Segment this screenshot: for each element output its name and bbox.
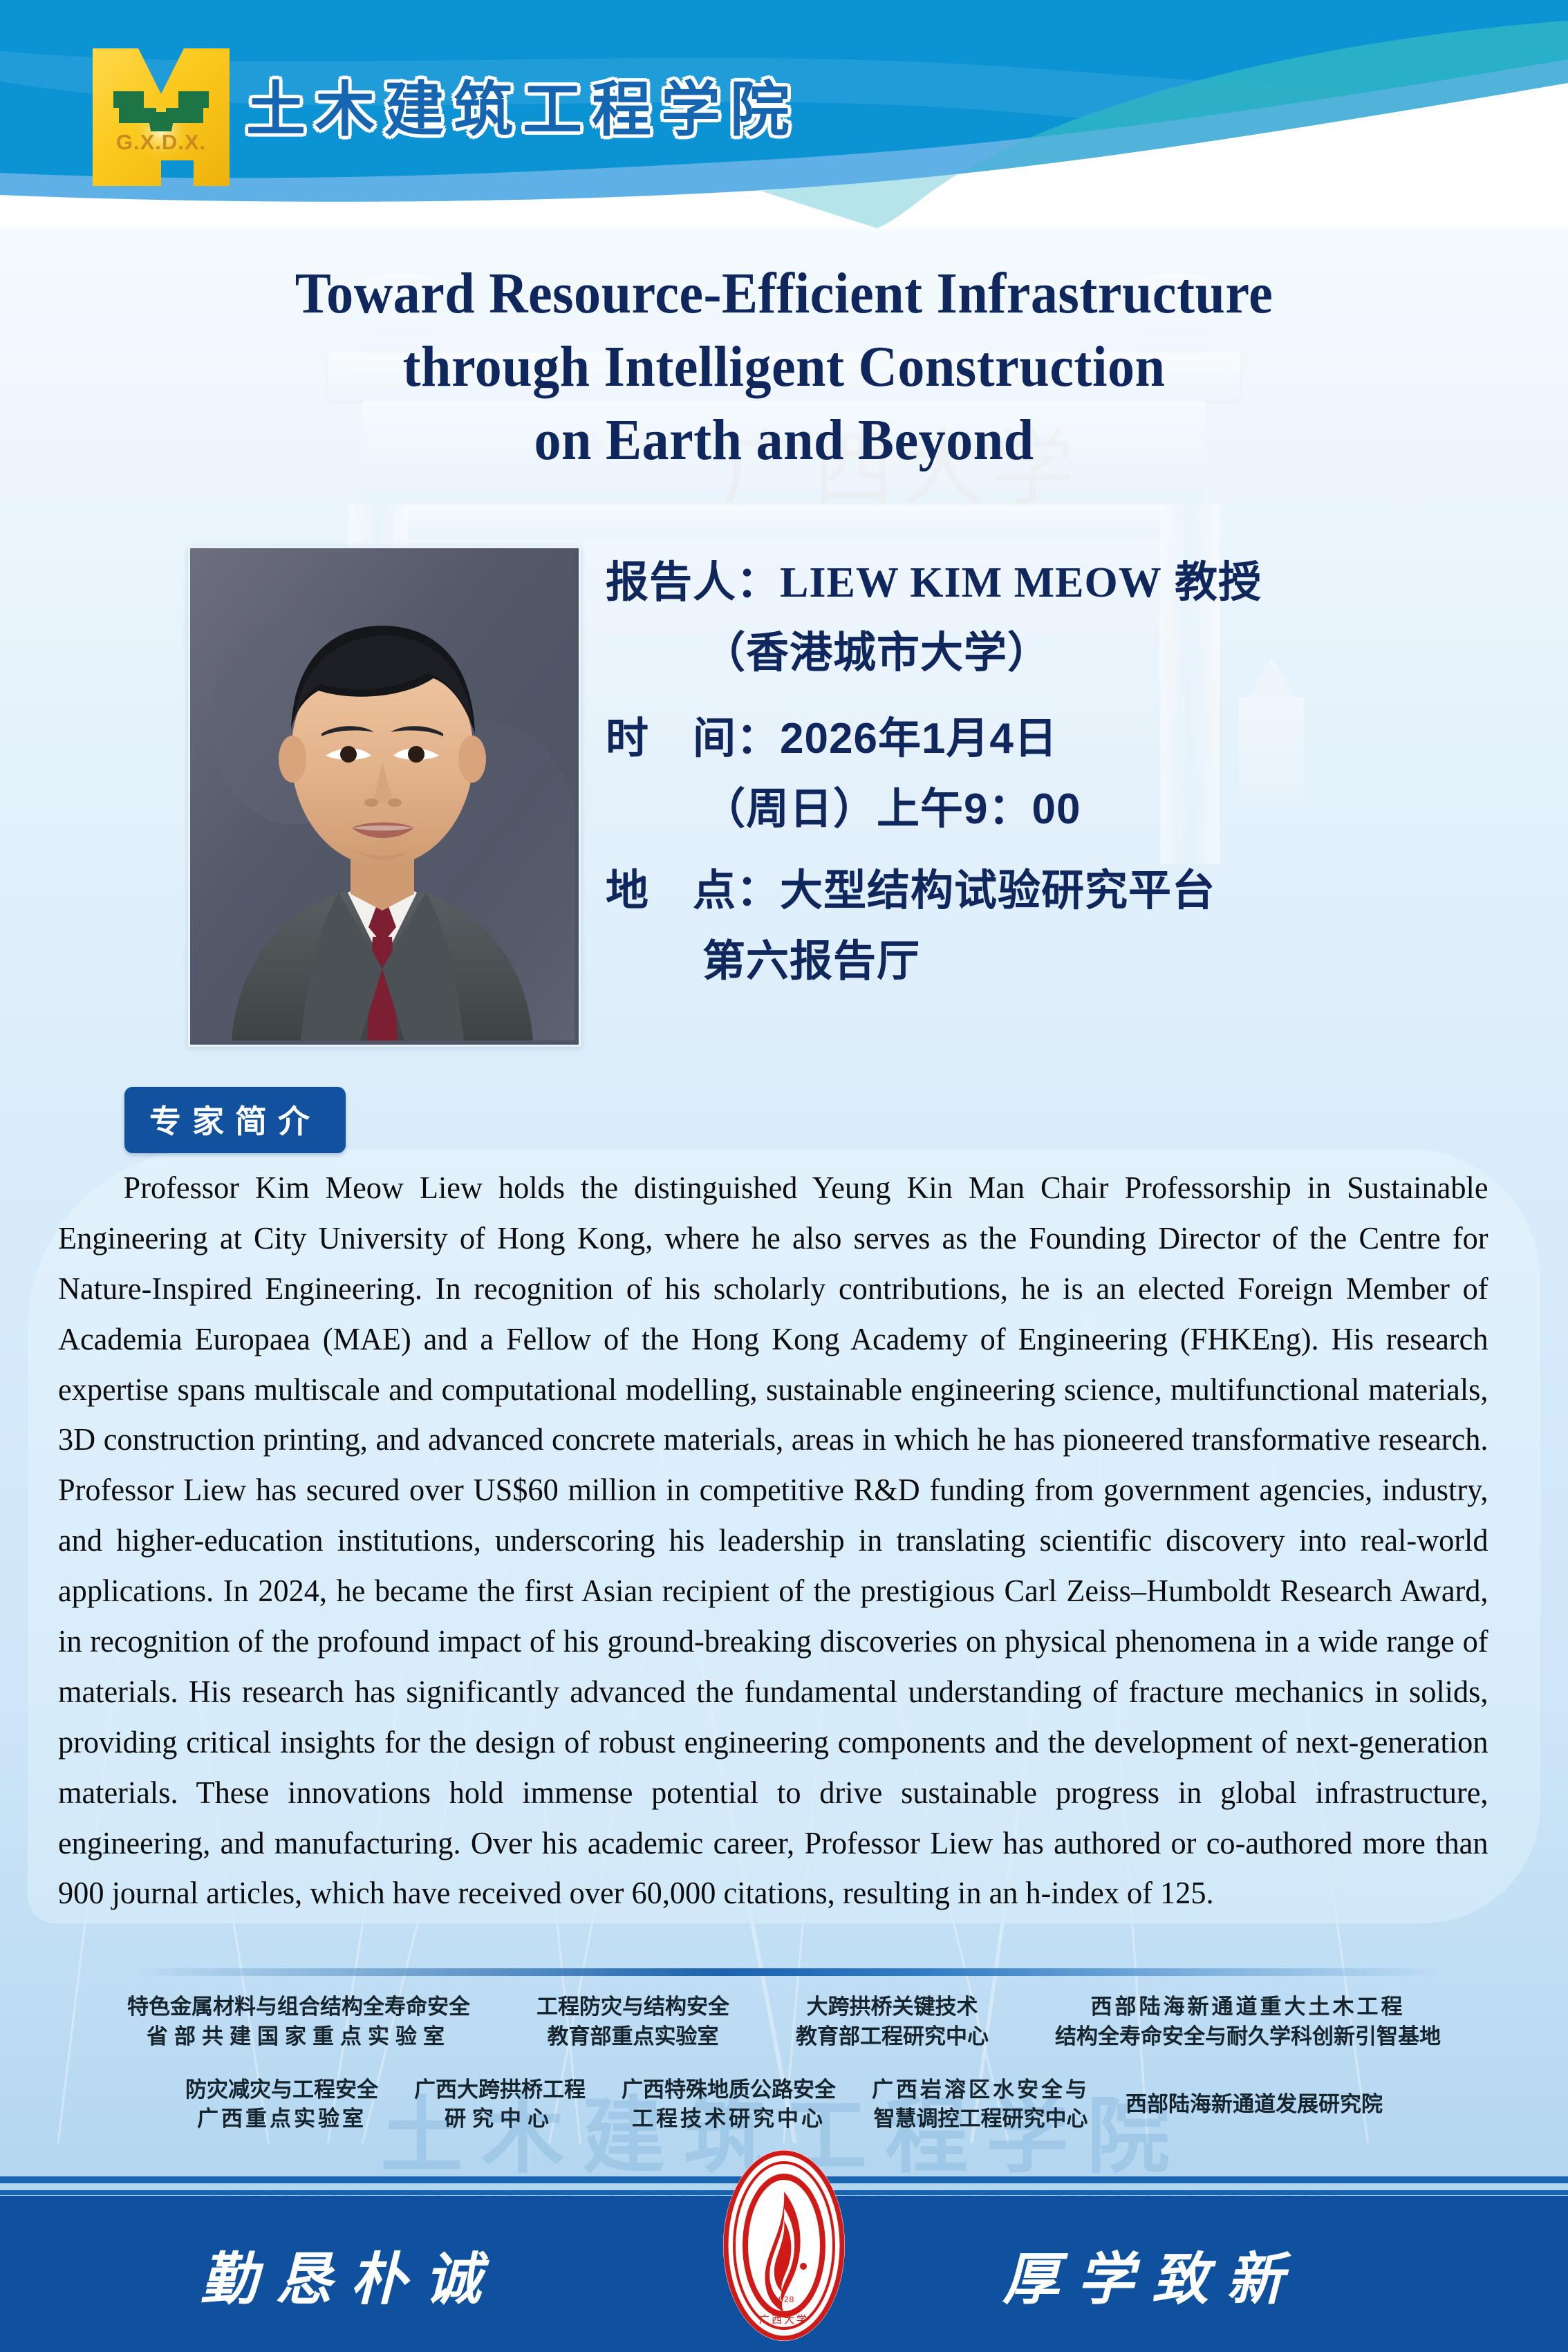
lab-line-1: 工程防灾与结构安全 xyxy=(536,1992,729,2022)
lab-item: 广西岩溶区水安全与 智慧调控工程研究中心 xyxy=(872,2075,1090,2135)
time-value-2: （周日）上午9：00 xyxy=(606,788,1421,831)
lab-item: 西部陆海新通道重大土木工程 结构全寿命安全与耐久学科创新引智基地 xyxy=(1055,1992,1441,2052)
motto-left: 勤恳朴诚 xyxy=(200,2233,499,2315)
lab-line-2: 省部共建国家重点实验室 xyxy=(127,2022,470,2052)
lab-row-1: 特色金属材料与组合结构全寿命安全 省部共建国家重点实验室 工程防灾与结构安全 教… xyxy=(55,1992,1513,2052)
lab-item: 特色金属材料与组合结构全寿命安全 省部共建国家重点实验室 xyxy=(127,1992,470,2052)
status-badge: 专家简介 xyxy=(124,1087,346,1153)
title-line-1: Toward Resource-Efficient Infrastructure xyxy=(55,257,1513,330)
lab-line-2: 教育部工程研究中心 xyxy=(796,2022,989,2052)
lab-line-2: 工程技术研究中心 xyxy=(622,2104,836,2134)
lab-item: 西部陆海新通道发展研究院 xyxy=(1126,2075,1383,2135)
lab-row-2: 防灾减灾与工程安全 广西重点实验室 广西大跨拱桥工程 研究中心 广西特殊地质公路… xyxy=(55,2075,1513,2135)
speaker-name: LIEW KIM MEOW xyxy=(780,559,1162,606)
speaker-row: 报告人：LIEW KIM MEOW 教授 xyxy=(606,561,1421,604)
lab-list: 特色金属材料与组合结构全寿命安全 省部共建国家重点实验室 工程防灾与结构安全 教… xyxy=(55,1992,1513,2135)
lab-line-1: 西部陆海新通道重大土木工程 xyxy=(1055,1992,1441,2022)
lab-line-2: 广西重点实验室 xyxy=(185,2104,378,2134)
school-name-cn: 土木建筑工程学院 xyxy=(246,61,799,147)
lab-line-2: 结构全寿命安全与耐久学科创新引智基地 xyxy=(1055,2022,1441,2052)
lab-line-2: 教育部重点实验室 xyxy=(536,2022,729,2052)
svg-text:1928: 1928 xyxy=(774,2295,795,2304)
footer-divider xyxy=(136,1968,1435,1976)
place-row: 地 点：大型结构试验研究平台 xyxy=(606,870,1421,913)
speaker-title: 教授 xyxy=(1175,559,1262,606)
lab-line-1: 西部陆海新通道发展研究院 xyxy=(1126,2090,1383,2120)
title-line-2: through Intelligent Construction xyxy=(55,330,1513,404)
bio-text: Professor Kim Meow Liew holds the distin… xyxy=(58,1163,1488,1919)
lab-line-1: 广西岩溶区水安全与 xyxy=(872,2075,1090,2105)
logo-caption: G.X.D.X. xyxy=(88,130,234,155)
place-value: 大型结构试验研究平台 xyxy=(780,867,1215,915)
speaker-portrait xyxy=(188,546,581,1047)
motto-right: 厚学致新 xyxy=(1002,2233,1301,2315)
place-value-2: 第六报告厅 xyxy=(606,940,1421,983)
university-seal-icon: 广西大学 1928 xyxy=(722,2149,846,2342)
lab-item: 广西特殊地质公路安全 工程技术研究中心 xyxy=(622,2075,836,2135)
lab-line-1: 广西大跨拱桥工程 xyxy=(414,2075,586,2105)
speaker-info: 报告人：LIEW KIM MEOW 教授 （香港城市大学） 时 间：2026年1… xyxy=(606,561,1421,983)
gxdx-logo-icon xyxy=(88,43,234,192)
lab-item: 广西大跨拱桥工程 研究中心 xyxy=(414,2075,586,2135)
lab-item: 防灾减灾与工程安全 广西重点实验室 xyxy=(185,2075,378,2135)
speaker-affiliation: （香港城市大学） xyxy=(606,632,1421,675)
place-label: 地 点： xyxy=(606,867,780,915)
portrait-image xyxy=(190,548,575,1040)
title-line-3: on Earth and Beyond xyxy=(55,404,1513,477)
speaker-label: 报告人： xyxy=(606,559,780,606)
time-row: 时 间：2026年1月4日 xyxy=(606,718,1421,760)
time-label: 时 间： xyxy=(606,715,780,763)
lab-item: 大跨拱桥关键技术 教育部工程研究中心 xyxy=(796,1992,989,2052)
lab-line-2: 研究中心 xyxy=(414,2104,586,2134)
lab-line-2: 智慧调控工程研究中心 xyxy=(872,2104,1090,2134)
svg-text:广西大学: 广西大学 xyxy=(759,2314,809,2326)
lab-line-1: 防灾减灾与工程安全 xyxy=(185,2075,378,2105)
lab-line-1: 特色金属材料与组合结构全寿命安全 xyxy=(127,1992,470,2022)
lab-line-1: 大跨拱桥关键技术 xyxy=(796,1992,989,2022)
poster-header: G.X.D.X. 土木建筑工程学院 xyxy=(0,0,1568,228)
school-logo: G.X.D.X. xyxy=(88,43,234,192)
lab-line-1: 广西特殊地质公路安全 xyxy=(622,2075,836,2105)
time-value: 2026年1月4日 xyxy=(780,715,1058,763)
lab-item: 工程防灾与结构安全 教育部重点实验室 xyxy=(536,1992,729,2052)
poster-root: 广西大学 土木建筑工程学院 SCHOOL OF CIVIL ENGINEERIN… xyxy=(0,0,1568,2352)
page-title: Toward Resource-Efficient Infrastructure… xyxy=(55,257,1513,476)
